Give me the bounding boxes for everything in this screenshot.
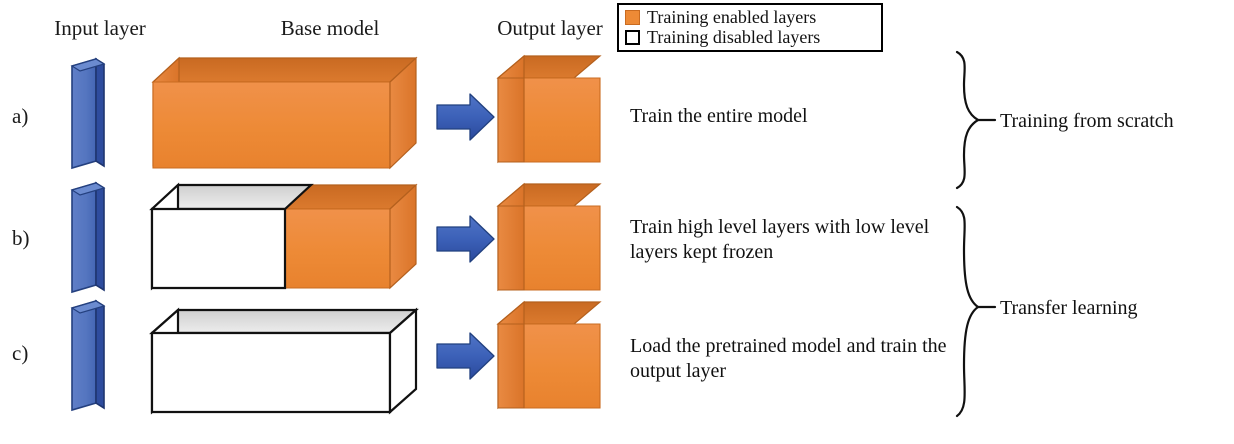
input-layer-plate-a [72,59,104,168]
diagram-canvas: Input layer Base model Output layer a) b… [0,0,1234,444]
legend-item-training-enabled: Training enabled layers [625,7,875,27]
output-layer-cube-c [498,302,600,408]
arrow-b [437,216,494,262]
diagram-artwork [0,0,1234,444]
output-layer-cube-a [498,56,600,162]
arrow-a [437,94,494,140]
base-model-frozen-segment-b [152,185,311,288]
brace-transfer-learning [957,207,995,416]
legend-item-training-disabled: Training disabled layers [625,27,875,47]
column-header-output-layer: Output layer [460,16,640,41]
legend-label-enabled: Training enabled layers [647,8,816,27]
legend-swatch-enabled-icon [625,10,640,25]
input-layer-plate-b [72,183,104,292]
row-label-c: c) [12,341,52,366]
legend-label-disabled: Training disabled layers [647,28,820,47]
row-label-b: b) [12,226,52,251]
legend-swatch-disabled-icon [625,30,640,45]
base-model-trainable-segment-b [285,185,416,288]
row-label-a: a) [12,104,52,129]
column-header-base-model: Base model [200,16,460,41]
base-model-box-a [143,58,416,168]
arrow-c [437,333,494,379]
row-description-c: Load the pretrained model and train the … [630,334,950,384]
base-model-box-c [152,310,416,412]
legend-box: Training enabled layers Training disable… [617,3,883,52]
input-layer-plate-c [72,301,104,410]
column-header-input-layer: Input layer [20,16,180,41]
base-model-box-b [152,185,416,288]
group-label-training-from-scratch: Training from scratch [1000,110,1174,133]
brace-training-from-scratch [957,52,995,188]
row-description-a: Train the entire model [630,104,950,129]
group-label-transfer-learning: Transfer learning [1000,297,1138,320]
output-layer-cube-b [498,184,600,290]
row-description-b: Train high level layers with low level l… [630,215,950,265]
